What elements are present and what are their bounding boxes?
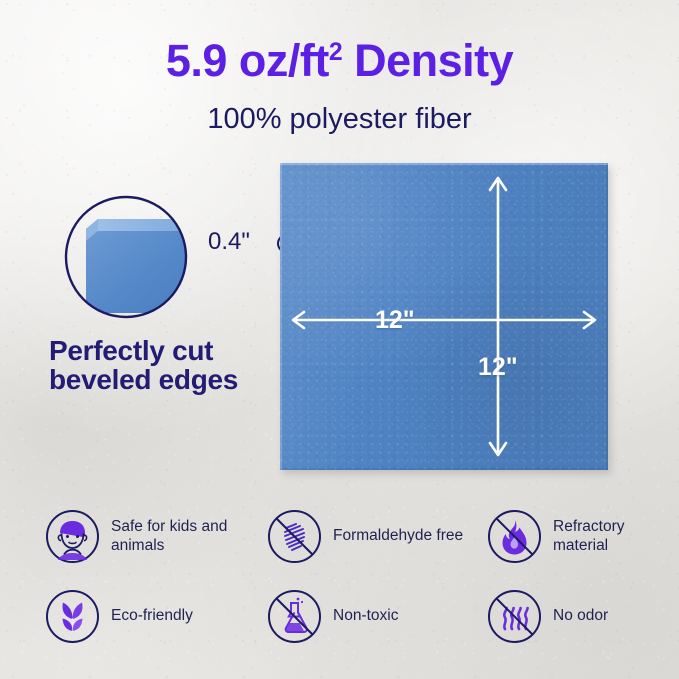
feature-safe-for-kids: Safe for kids and animals (45, 509, 267, 564)
page-subtitle: 100% polyester fiber (0, 105, 679, 134)
dimension-arrows (280, 163, 608, 470)
page-title: 5.9 oz/ft2 Density (0, 38, 679, 83)
no-flame-icon (487, 509, 542, 564)
feature-label: No odor (553, 606, 608, 625)
feature-list: Safe for kids and animals (45, 496, 645, 656)
feature-row-top: Safe for kids and animals (45, 496, 645, 576)
title-tail: Density (342, 35, 513, 86)
no-formaldehyde-icon (267, 509, 322, 564)
title-superscript: 2 (329, 39, 342, 66)
feature-no-odor: No odor (487, 589, 645, 644)
feature-label: Formaldehyde free (333, 526, 463, 545)
thickness-label: 0.4" (208, 230, 250, 254)
beveled-edge-callout: Perfectly cut beveled edges (49, 337, 259, 394)
feature-row-bottom: Eco-friendly Non-toxic (45, 576, 645, 656)
no-odor-icon (487, 589, 542, 644)
feature-label: Eco-friendly (111, 606, 193, 625)
leaf-icon (45, 589, 100, 644)
title-main: 5.9 oz/ft (166, 35, 329, 86)
product-infographic: 5.9 oz/ft2 Density 100% polyester fiber (0, 0, 679, 679)
panel-width-label: 12" (375, 308, 415, 333)
panel-height-label: 12" (478, 355, 518, 380)
child-face-icon (45, 509, 100, 564)
acoustic-panel: 12" 12" (280, 163, 608, 470)
no-flask-icon (267, 589, 322, 644)
feature-eco-friendly: Eco-friendly (45, 589, 267, 644)
feature-label: Refractory material (553, 517, 645, 556)
beveled-edge-inset (64, 195, 188, 319)
feature-label: Safe for kids and animals (111, 517, 267, 556)
feature-non-toxic: Non-toxic (267, 589, 487, 644)
feature-formaldehyde-free: Formaldehyde free (267, 509, 487, 564)
beveled-edge-illustration (64, 195, 188, 319)
feature-refractory-material: Refractory material (487, 509, 645, 564)
feature-label: Non-toxic (333, 606, 398, 625)
